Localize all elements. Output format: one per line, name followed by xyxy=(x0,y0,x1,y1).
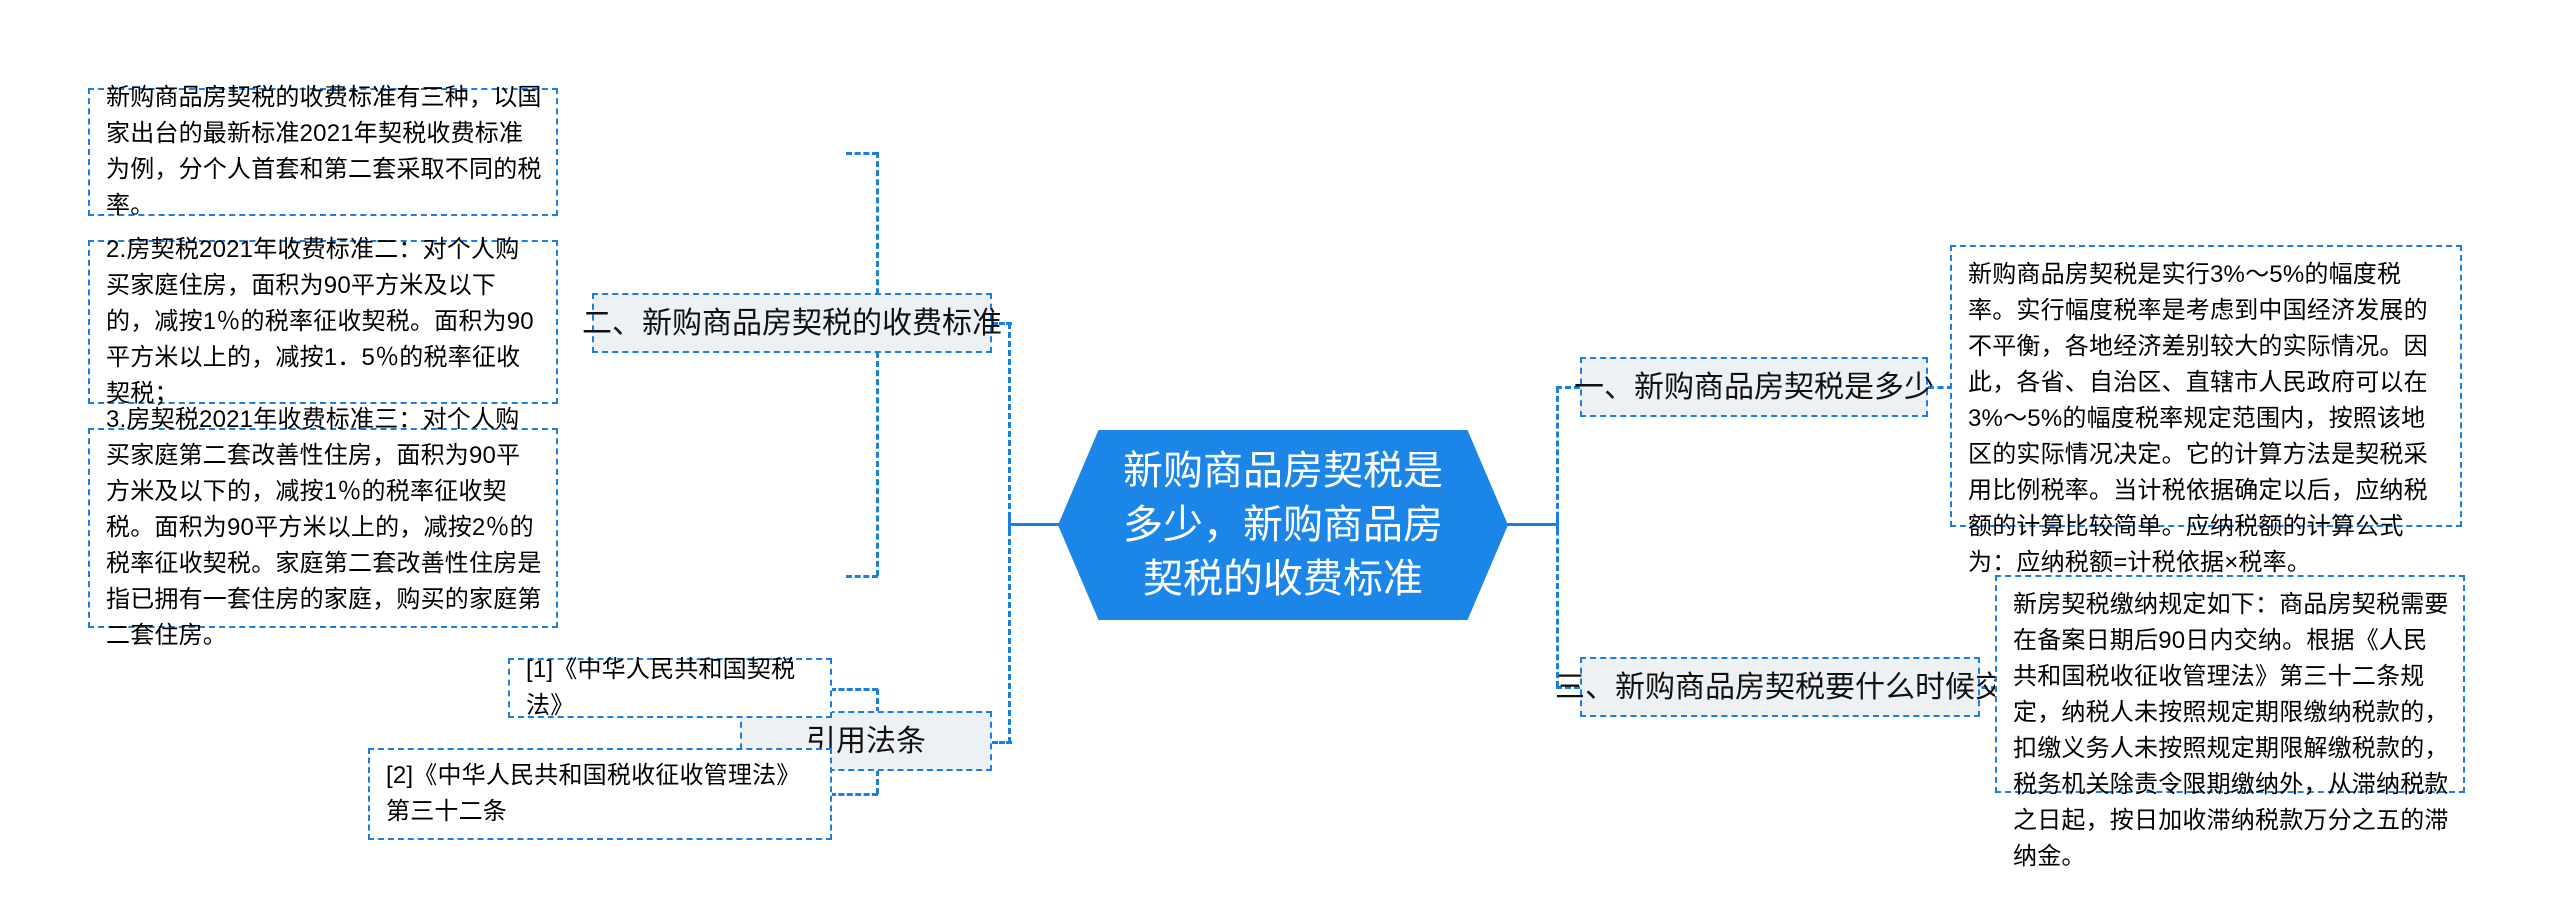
leaf-node-3-1-text: 新房契税缴纳规定如下：商品房契税需要在备案日期后90日内交纳。根据《人民共和国税… xyxy=(2013,587,2449,875)
leaf-node-2-2[interactable]: 2.房契税2021年收费标准二：对个人购买家庭住房，面积为90平方米及以下的，减… xyxy=(88,240,558,404)
branch-label-1-text: 一、新购商品房契税是多少 xyxy=(1574,365,1934,410)
leaf-node-1-1-text: 新购商品房契税是实行3%～5%的幅度税率。实行幅度税率是考虑到中国经济发展的不平… xyxy=(1968,257,2446,581)
connector-branch2-subtrunk xyxy=(876,152,879,576)
center-node[interactable]: 新购商品房契税是多少，新购商品房契税的收费标准 xyxy=(1058,430,1508,620)
leaf-node-2-2-text: 2.房契税2021年收费标准二：对个人购买家庭住房，面积为90平方米及以下的，减… xyxy=(106,232,542,412)
leaf-node-2-3[interactable]: 3.房契税2021年收费标准三：对个人购买家庭第二套改善性住房，面积为90平方米… xyxy=(88,428,558,628)
leaf-node-4-1[interactable]: [1]《中华人民共和国契税法》 xyxy=(508,658,832,718)
connector-center-right-stub xyxy=(1506,523,1558,526)
connector-branch4-leaf1 xyxy=(830,688,878,691)
branch-label-2-text: 二、新购商品房契税的收费标准 xyxy=(582,301,1002,346)
connector-left-to-branch4 xyxy=(992,741,1012,744)
branch-label-3[interactable]: 三、新购商品房契税要什么时候交 xyxy=(1580,657,1980,717)
center-node-title: 新购商品房契税是多少，新购商品房契税的收费标准 xyxy=(1104,444,1462,606)
leaf-node-2-3-text: 3.房契税2021年收费标准三：对个人购买家庭第二套改善性住房，面积为90平方米… xyxy=(106,402,542,654)
leaf-node-4-1-text: [1]《中华人民共和国契税法》 xyxy=(526,652,816,724)
leaf-node-2-1-text: 新购商品房契税的收费标准有三种，以国家出台的最新标准2021年契税收费标准为例，… xyxy=(106,80,542,224)
leaf-node-3-1[interactable]: 新房契税缴纳规定如下：商品房契税需要在备案日期后90日内交纳。根据《人民共和国税… xyxy=(1995,575,2465,793)
connector-branch4-leaf2 xyxy=(830,793,878,796)
mindmap-canvas: 新购商品房契税是多少，新购商品房契税的收费标准 二、新购商品房契税的收费标准 引… xyxy=(0,0,2560,915)
connector-left-trunk xyxy=(1008,323,1011,743)
leaf-node-4-2-text: [2]《中华人民共和国税收征收管理法》 第三十二条 xyxy=(386,758,816,830)
connector-branch2-leaf3 xyxy=(846,575,878,578)
branch-label-2[interactable]: 二、新购商品房契税的收费标准 xyxy=(592,293,992,353)
leaf-node-1-1[interactable]: 新购商品房契税是实行3%～5%的幅度税率。实行幅度税率是考虑到中国经济发展的不平… xyxy=(1950,245,2462,527)
branch-label-1[interactable]: 一、新购商品房契税是多少 xyxy=(1580,357,1928,417)
connector-center-left-stub xyxy=(1010,523,1060,526)
connector-right-trunk xyxy=(1556,387,1559,687)
leaf-node-2-1[interactable]: 新购商品房契税的收费标准有三种，以国家出台的最新标准2021年契税收费标准为例，… xyxy=(88,88,558,216)
connector-branch2-leaf1 xyxy=(846,152,878,155)
leaf-node-4-2[interactable]: [2]《中华人民共和国税收征收管理法》 第三十二条 xyxy=(368,748,832,840)
branch-label-3-text: 三、新购商品房契税要什么时候交 xyxy=(1555,665,2005,710)
